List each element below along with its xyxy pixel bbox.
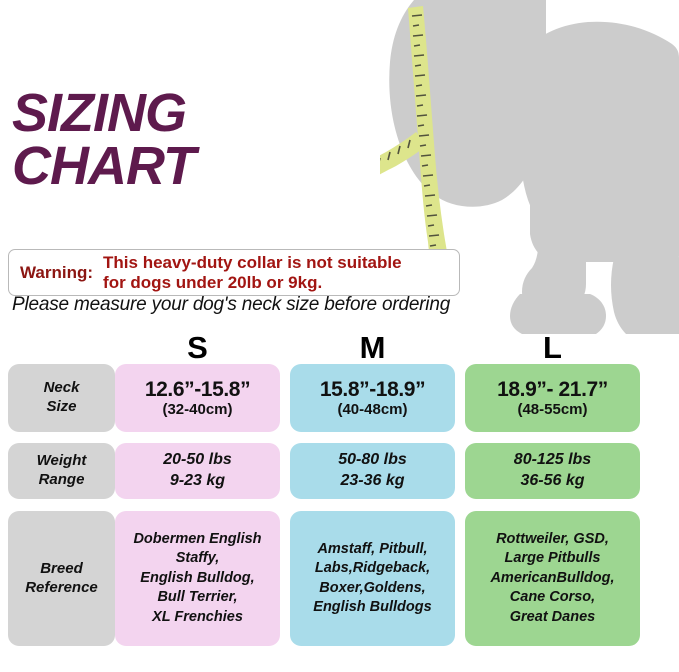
cell-neck-size-m: 15.8”-18.9” (40-48cm) — [290, 364, 455, 432]
table-row-neck-size: Neck Size 12.6”-15.8” (32-40cm) 15.8”-18… — [0, 364, 679, 432]
cell-breed-reference-s-text: Dobermen English Staffy, English Bulldog… — [127, 530, 267, 627]
size-header-s: S — [115, 330, 280, 366]
cell-breed-reference-m: Amstaff, Pitbull, Labs,Ridgeback, Boxer,… — [290, 511, 455, 646]
cell-breed-reference-s: Dobermen English Staffy, English Bulldog… — [115, 511, 280, 646]
size-header-l: L — [465, 330, 640, 366]
cell-weight-range-m-kg: 23-36 kg — [340, 471, 404, 492]
cell-neck-size-s-cm: (32-40cm) — [162, 401, 232, 418]
page-title-line2: CHART — [12, 140, 480, 193]
cell-neck-size-m-cm: (40-48cm) — [337, 401, 407, 418]
cell-weight-range-s-lbs: 20-50 lbs — [163, 450, 231, 471]
cell-neck-size-l: 18.9”- 21.7” (48-55cm) — [465, 364, 640, 432]
sizing-chart-page: SIZING CHART Size Recommendation for Nec… — [0, 0, 679, 672]
row-label-neck-size: Neck Size — [8, 364, 115, 432]
size-header-m: M — [290, 330, 455, 366]
cell-breed-reference-m-text: Amstaff, Pitbull, Labs,Ridgeback, Boxer,… — [307, 540, 437, 618]
row-label-weight-range-text: Weight Range — [37, 452, 87, 490]
table-row-weight-range: Weight Range 20-50 lbs 9-23 kg 50-80 lbs… — [0, 443, 679, 499]
row-label-breed-reference: Breed Reference — [8, 511, 115, 646]
cell-neck-size-m-inches: 15.8”-18.9” — [320, 378, 425, 401]
warning-text: This heavy-duty collar is not suitable f… — [103, 253, 402, 291]
cell-breed-reference-l: Rottweiler, GSD, Large Pitbulls American… — [465, 511, 640, 646]
row-label-neck-size-text: Neck Size — [44, 379, 80, 417]
cell-weight-range-l-kg: 36-56 kg — [520, 471, 584, 492]
size-header-row: S M L — [0, 330, 679, 364]
cell-neck-size-s-inches: 12.6”-15.8” — [145, 378, 250, 401]
cell-weight-range-l-lbs: 80-125 lbs — [514, 450, 591, 471]
page-title-line1: SIZING — [12, 83, 186, 143]
warning-box: Warning: This heavy-duty collar is not s… — [8, 249, 460, 296]
page-title: SIZING CHART — [0, 0, 480, 246]
cell-neck-size-l-cm: (48-55cm) — [517, 401, 587, 418]
table-row-breed-reference: Breed Reference Dobermen English Staffy,… — [0, 511, 679, 646]
cell-weight-range-m: 50-80 lbs 23-36 kg — [290, 443, 455, 499]
cell-breed-reference-l-text: Rottweiler, GSD, Large Pitbulls American… — [484, 530, 620, 627]
warning-label: Warning: — [9, 263, 103, 283]
cell-neck-size-l-inches: 18.9”- 21.7” — [497, 378, 608, 401]
cell-weight-range-s: 20-50 lbs 9-23 kg — [115, 443, 280, 499]
row-label-breed-reference-text: Breed Reference — [25, 560, 98, 598]
cell-weight-range-l: 80-125 lbs 36-56 kg — [465, 443, 640, 499]
size-table: S M L Neck Size 12.6”-15.8” (32-40cm) 15… — [0, 330, 679, 646]
row-label-weight-range: Weight Range — [8, 443, 115, 499]
cell-neck-size-s: 12.6”-15.8” (32-40cm) — [115, 364, 280, 432]
cell-weight-range-m-lbs: 50-80 lbs — [338, 450, 406, 471]
cell-weight-range-s-kg: 9-23 kg — [170, 471, 225, 492]
